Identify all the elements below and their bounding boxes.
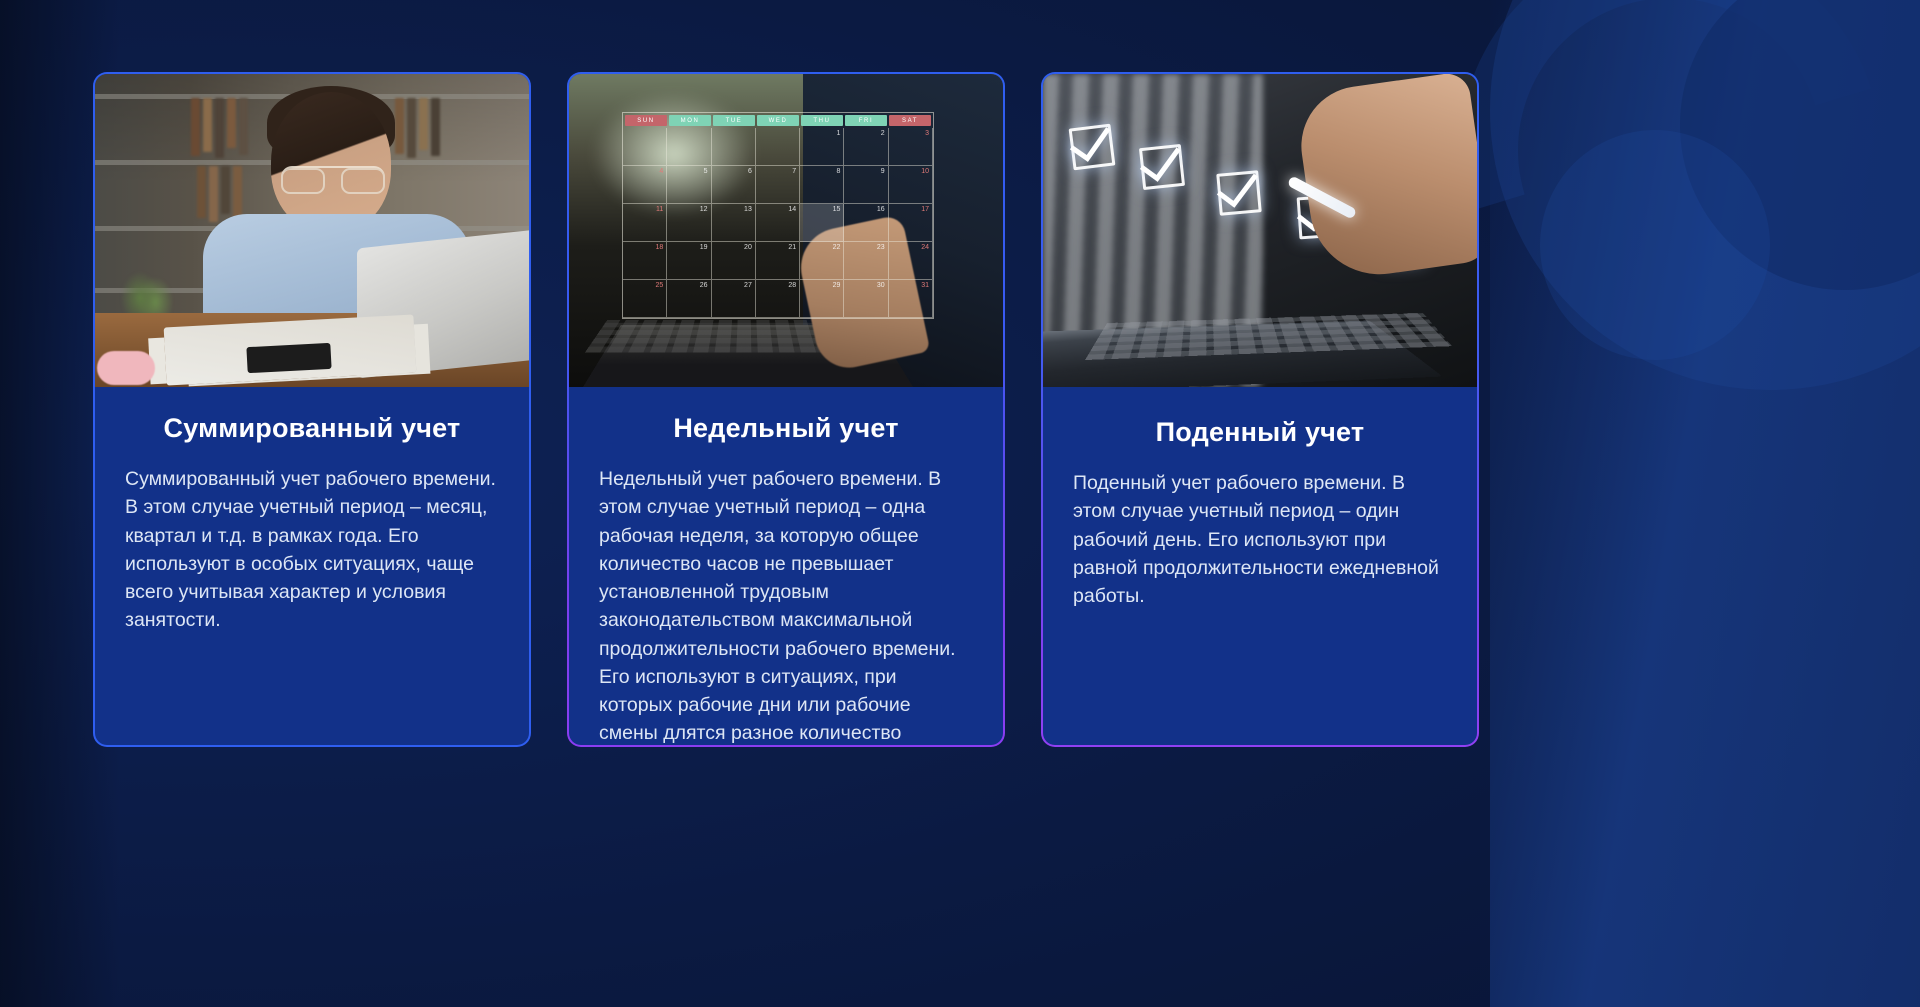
piggy-bank bbox=[97, 351, 155, 385]
calendar-date-cell: 25 bbox=[623, 280, 667, 318]
calendar-date-cell: 15 bbox=[800, 204, 844, 242]
calendar-date-cell bbox=[712, 128, 756, 166]
calendar-date-cell: 16 bbox=[844, 204, 888, 242]
books-row bbox=[395, 98, 440, 158]
calendar-day-label: MON bbox=[669, 115, 711, 126]
calendar-date-cell: 9 bbox=[844, 166, 888, 204]
calendar-date-cell bbox=[667, 128, 711, 166]
card-title: Недельный учет bbox=[599, 413, 973, 444]
checkbox-checked-icon bbox=[1069, 124, 1116, 171]
card-image-podenny bbox=[1043, 74, 1477, 387]
card-inner: Суммированный учет Суммированный учет ра… bbox=[95, 74, 529, 745]
calendar-date-cell: 20 bbox=[712, 242, 756, 280]
calendar-date-cell: 4 bbox=[623, 166, 667, 204]
calendar-day-label: THU bbox=[801, 115, 843, 126]
calendar-date-cell: 5 bbox=[667, 166, 711, 204]
calendar-date-cell: 31 bbox=[889, 280, 933, 318]
calendar-date-cell: 17 bbox=[889, 204, 933, 242]
calendar-date-cell: 6 bbox=[712, 166, 756, 204]
card-summirovanny[interactable]: Суммированный учет Суммированный учет ра… bbox=[93, 72, 531, 747]
calendar-date-cell bbox=[756, 128, 800, 166]
calendar-date-cell: 8 bbox=[800, 166, 844, 204]
cards-row: Суммированный учет Суммированный учет ра… bbox=[0, 0, 1920, 747]
calendar-date-cell: 22 bbox=[800, 242, 844, 280]
calendar-overlay: SUNMONTUEWEDTHUFRISAT 123456789101112131… bbox=[622, 112, 934, 319]
calendar-date-cell bbox=[623, 128, 667, 166]
calendar-header: SUNMONTUEWEDTHUFRISAT bbox=[623, 113, 933, 128]
calendar-date-cell: 26 bbox=[667, 280, 711, 318]
card-body: Недельный учет Недельный учет рабочего в… bbox=[569, 387, 1003, 745]
calendar-date-cell: 7 bbox=[756, 166, 800, 204]
books-row bbox=[197, 166, 242, 222]
calendar-day-label: SUN bbox=[625, 115, 667, 126]
card-image-summirovanny bbox=[95, 74, 529, 387]
calendar-date-cell: 13 bbox=[712, 204, 756, 242]
calendar-date-cell: 11 bbox=[623, 204, 667, 242]
calendar-date-cell: 27 bbox=[712, 280, 756, 318]
calendar-date-cell: 29 bbox=[800, 280, 844, 318]
card-text: Суммированный учет рабочего времени. В э… bbox=[125, 465, 499, 635]
calendar-date-cell: 18 bbox=[623, 242, 667, 280]
books-row bbox=[191, 98, 248, 158]
calendar-day-label: SAT bbox=[889, 115, 931, 126]
calendar-date-cell: 23 bbox=[844, 242, 888, 280]
card-text: Недельный учет рабочего времени. В этом … bbox=[599, 465, 973, 745]
calendar-date-cell: 3 bbox=[889, 128, 933, 166]
calendar-date-cell: 24 bbox=[889, 242, 933, 280]
calendar-grid: 1234567891011121314151617181920212223242… bbox=[623, 128, 933, 318]
calendar-date-cell: 10 bbox=[889, 166, 933, 204]
person-head bbox=[271, 92, 391, 232]
calendar-date-cell: 19 bbox=[667, 242, 711, 280]
calendar-date-cell: 14 bbox=[756, 204, 800, 242]
calendar-day-label: WED bbox=[757, 115, 799, 126]
card-body: Поденный учет Поденный учет рабочего вре… bbox=[1043, 387, 1477, 745]
calendar-date-cell: 2 bbox=[844, 128, 888, 166]
calendar-day-label: TUE bbox=[713, 115, 755, 126]
card-image-nedelny: SUNMONTUEWEDTHUFRISAT 123456789101112131… bbox=[569, 74, 1003, 387]
glasses-icon bbox=[281, 166, 385, 188]
checkbox-checked-icon bbox=[1216, 170, 1262, 216]
checkbox-checked-icon bbox=[1139, 144, 1185, 190]
calendar-day-label: FRI bbox=[845, 115, 887, 126]
calendar-date-cell: 28 bbox=[756, 280, 800, 318]
card-inner: Поденный учет Поденный учет рабочего вре… bbox=[1043, 74, 1477, 745]
card-inner: SUNMONTUEWEDTHUFRISAT 123456789101112131… bbox=[569, 74, 1003, 745]
card-text: Поденный учет рабочего времени. В этом с… bbox=[1073, 469, 1447, 610]
calendar-date-cell: 1 bbox=[800, 128, 844, 166]
card-body: Суммированный учет Суммированный учет ра… bbox=[95, 387, 529, 745]
calendar-date-cell: 21 bbox=[756, 242, 800, 280]
card-title: Поденный учет bbox=[1073, 417, 1447, 448]
card-podenny[interactable]: Поденный учет Поденный учет рабочего вре… bbox=[1041, 72, 1479, 747]
card-title: Суммированный учет bbox=[125, 413, 499, 444]
hand bbox=[1294, 74, 1477, 283]
calendar-date-cell: 12 bbox=[667, 204, 711, 242]
calendar-date-cell: 30 bbox=[844, 280, 888, 318]
calculator bbox=[246, 343, 331, 373]
card-nedelny[interactable]: SUNMONTUEWEDTHUFRISAT 123456789101112131… bbox=[567, 72, 1005, 747]
